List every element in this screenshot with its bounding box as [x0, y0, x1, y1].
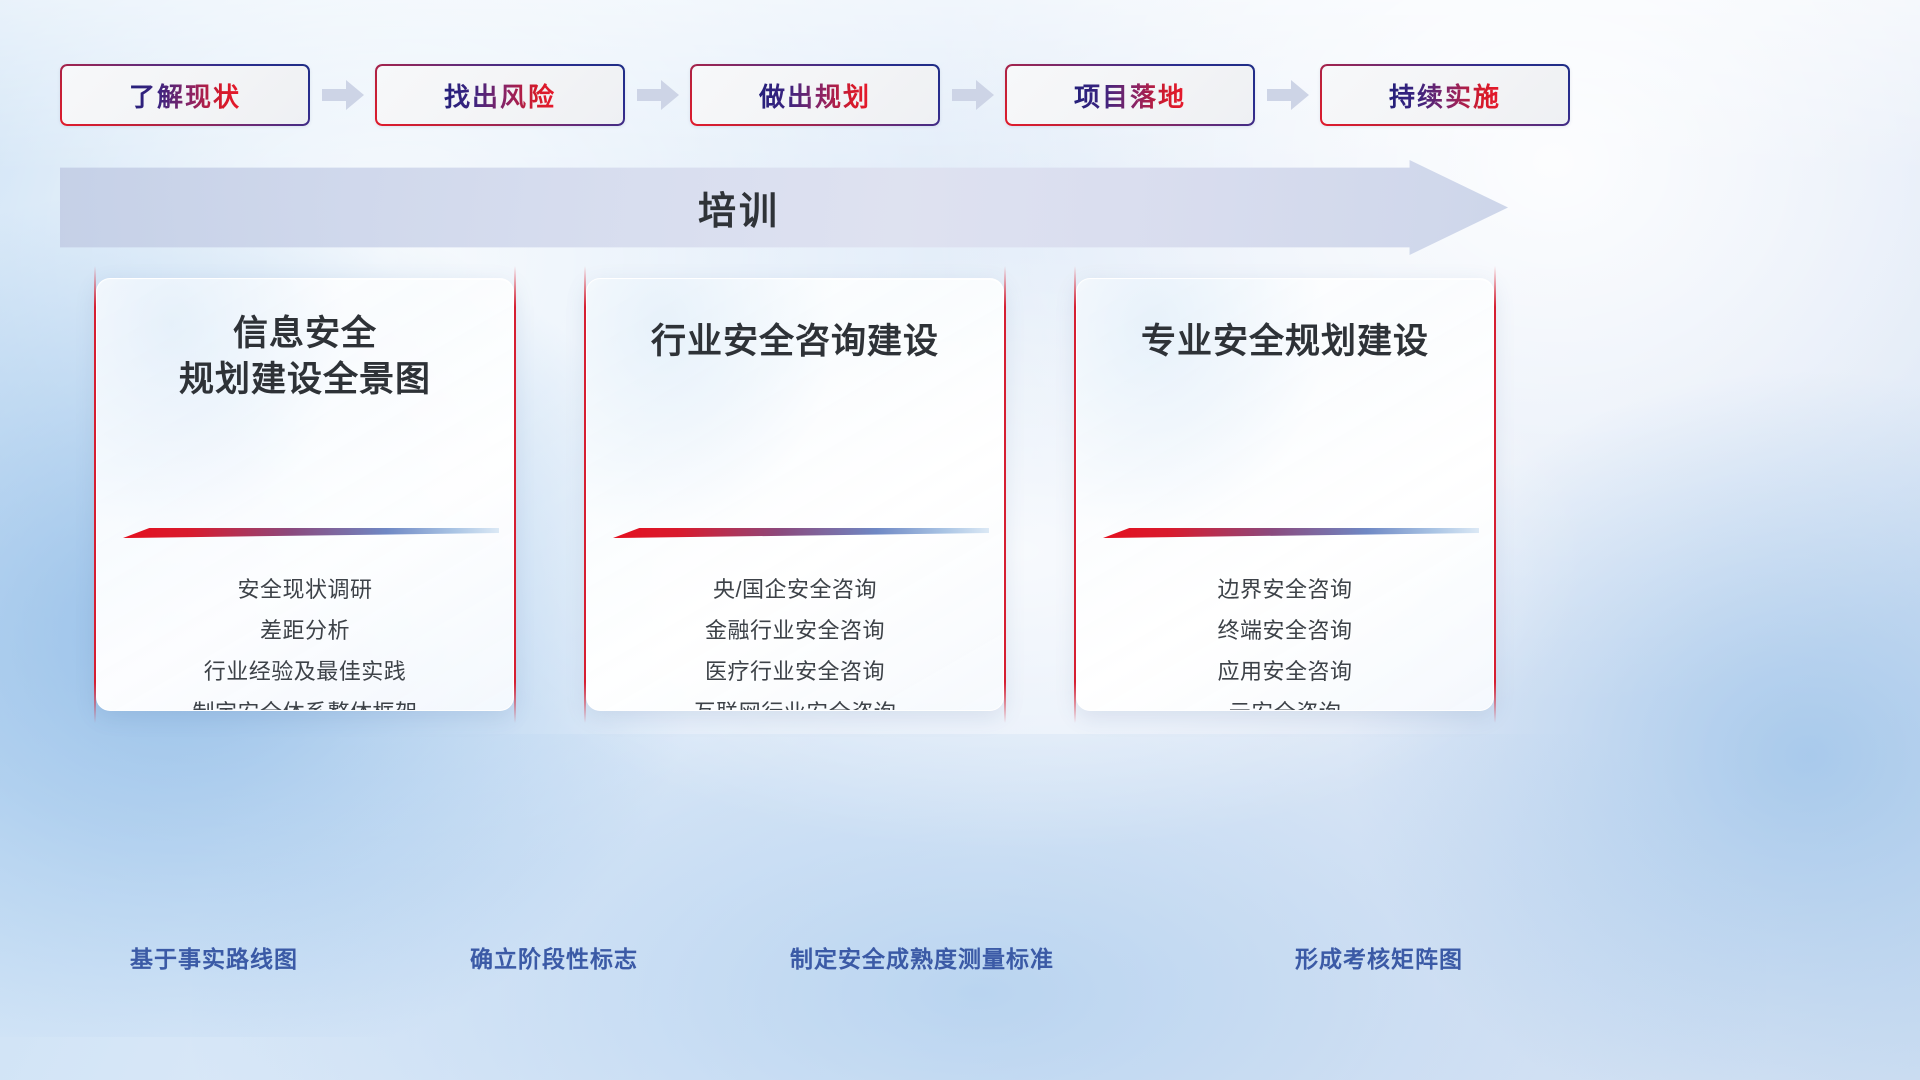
card-3-body: 专业安全规划建设 [1076, 278, 1494, 711]
list-item: 安全现状调研 [113, 579, 497, 601]
list-item: 医疗行业安全咨询 [603, 661, 987, 683]
step-label-5: 持续实施 [1389, 77, 1501, 114]
card-2-sheen [586, 278, 837, 538]
card-1[interactable]: 信息安全 规划建设全景图 [90, 272, 520, 717]
card-2-list: 央/国企安全咨询 金融行业安全咨询 医疗行业安全咨询 互联网行业安全咨询 制造行… [603, 579, 987, 711]
card-1-divider [123, 525, 499, 538]
card-2[interactable]: 行业安全咨询建设 [580, 272, 1010, 717]
process-step-row: 了解现状 找出风险 做出规划 项目落地 [60, 62, 1570, 128]
training-banner: 培训 [60, 160, 1508, 255]
list-item: 制定安全体系整体框架 [113, 702, 497, 711]
arrow-right-icon [940, 64, 1005, 126]
card-3-title-line-1: 专业安全规划建设 [1097, 319, 1473, 365]
caption-2: 确立阶段性标志 [470, 940, 638, 974]
list-item: 金融行业安全咨询 [603, 620, 987, 642]
caption-3: 制定安全成熟度测量标准 [790, 940, 1054, 974]
step-label-4: 项目落地 [1074, 77, 1186, 114]
list-item: 差距分析 [113, 620, 497, 642]
card-2-divider [613, 525, 989, 538]
card-row: 信息安全 规划建设全景图 [90, 272, 1500, 717]
step-box-3[interactable]: 做出规划 [690, 64, 940, 126]
caption-4: 形成考核矩阵图 [1295, 940, 1463, 974]
step-label-3: 做出规划 [759, 77, 871, 114]
arrow-right-icon [1255, 64, 1320, 126]
banner-title: 培训 [60, 160, 1418, 255]
card-1-list: 安全现状调研 差距分析 行业经验及最佳实践 制定安全体系整体框架 规划制定出客户… [113, 579, 497, 711]
list-item: 应用安全咨询 [1093, 661, 1477, 683]
step-box-5[interactable]: 持续实施 [1320, 64, 1570, 126]
card-3-sheen [1076, 278, 1327, 538]
card-3-list: 边界安全咨询 终端安全咨询 应用安全咨询 云安全咨询 数据安全咨询 [1093, 579, 1477, 711]
step-box-1[interactable]: 了解现状 [60, 64, 310, 126]
list-item: 边界安全咨询 [1093, 579, 1477, 601]
card-2-body: 行业安全咨询建设 [586, 278, 1004, 711]
card-1-title-line-1: 信息安全 [117, 311, 493, 357]
card-1-body: 信息安全 规划建设全景图 [96, 278, 514, 711]
card-3-title: 专业安全规划建设 [1097, 319, 1473, 365]
step-box-4[interactable]: 项目落地 [1005, 64, 1255, 126]
list-item: 央/国企安全咨询 [603, 579, 987, 601]
list-item: 云安全咨询 [1093, 702, 1477, 711]
caption-1: 基于事实路线图 [130, 940, 298, 974]
card-1-rail-right [514, 266, 516, 723]
slide-stage: 了解现状 找出风险 做出规划 项目落地 [0, 0, 1920, 1080]
arrow-right-icon [625, 64, 690, 126]
card-2-rail-right [1004, 266, 1006, 723]
list-item: 终端安全咨询 [1093, 620, 1477, 642]
list-item: 行业经验及最佳实践 [113, 661, 497, 683]
step-label-2: 找出风险 [444, 77, 556, 114]
arrow-right-icon [310, 64, 375, 126]
card-1-title-line-2: 规划建设全景图 [117, 357, 493, 403]
step-label-1: 了解现状 [129, 77, 241, 114]
card-3-divider [1103, 525, 1479, 538]
card-3[interactable]: 专业安全规划建设 [1070, 272, 1500, 717]
card-2-title: 行业安全咨询建设 [607, 319, 983, 365]
step-box-2[interactable]: 找出风险 [375, 64, 625, 126]
card-3-rail-right [1494, 266, 1496, 723]
card-1-title: 信息安全 规划建设全景图 [117, 311, 493, 403]
card-2-title-line-1: 行业安全咨询建设 [607, 319, 983, 365]
list-item: 互联网行业安全咨询 [603, 702, 987, 711]
caption-row: 基于事实路线图 确立阶段性标志 制定安全成熟度测量标准 形成考核矩阵图 [0, 940, 1920, 980]
